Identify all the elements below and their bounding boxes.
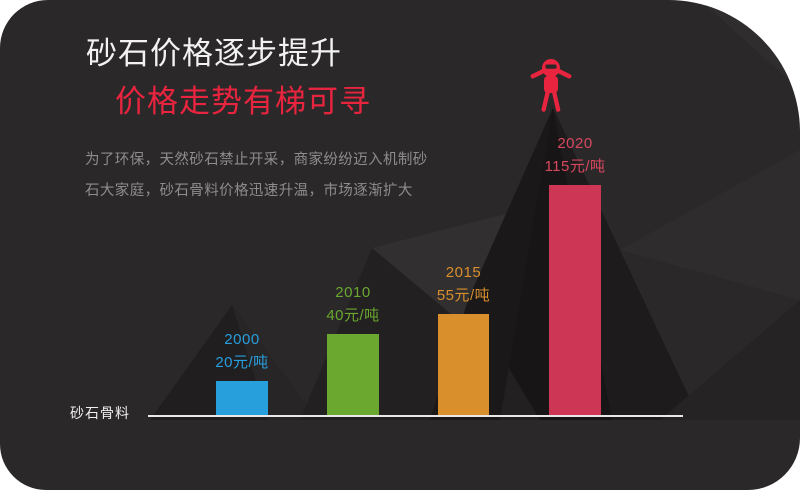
- bar-2020[interactable]: 2020 115元/吨: [549, 185, 601, 416]
- dark-card-panel: 砂石价格逐步提升 价格走势有梯可寻 为了环保，天然砂石禁止开采，商家纷纷迈入机制…: [0, 0, 800, 490]
- bar-2000[interactable]: 2000 20元/吨: [216, 381, 268, 416]
- bar-label-2015: 2015 55元/吨: [437, 261, 490, 307]
- bar-value-2010: 40元/吨: [326, 304, 379, 327]
- bar-year-2020: 2020: [544, 132, 605, 155]
- intro-paragraph: 为了环保，天然砂石禁止开采，商家纷纷迈入机制砂石大家庭，砂石骨料价格迅速升温，市…: [85, 145, 435, 207]
- page-title: 砂石价格逐步提升: [86, 34, 342, 74]
- bar-2015[interactable]: 2015 55元/吨: [438, 314, 489, 416]
- bar-2010[interactable]: 2010 40元/吨: [327, 334, 379, 416]
- bar-label-2010: 2010 40元/吨: [326, 281, 379, 327]
- bar-label-2020: 2020 115元/吨: [544, 132, 605, 178]
- axis-baseline: [148, 415, 683, 417]
- bar-label-2000: 2000 20元/吨: [215, 328, 268, 374]
- bar-value-2000: 20元/吨: [215, 351, 268, 374]
- bar-year-2015: 2015: [437, 261, 490, 284]
- celebrating-person-icon: [528, 55, 574, 115]
- infographic-stage: 砂石价格逐步提升 价格走势有梯可寻 为了环保，天然砂石禁止开采，商家纷纷迈入机制…: [0, 0, 800, 490]
- bar-value-2020: 115元/吨: [544, 155, 605, 178]
- bar-year-2000: 2000: [215, 328, 268, 351]
- bar-value-2015: 55元/吨: [437, 284, 490, 307]
- axis-category-label: 砂石骨料: [70, 403, 130, 423]
- bar-year-2010: 2010: [326, 281, 379, 304]
- page-subtitle: 价格走势有梯可寻: [115, 82, 371, 122]
